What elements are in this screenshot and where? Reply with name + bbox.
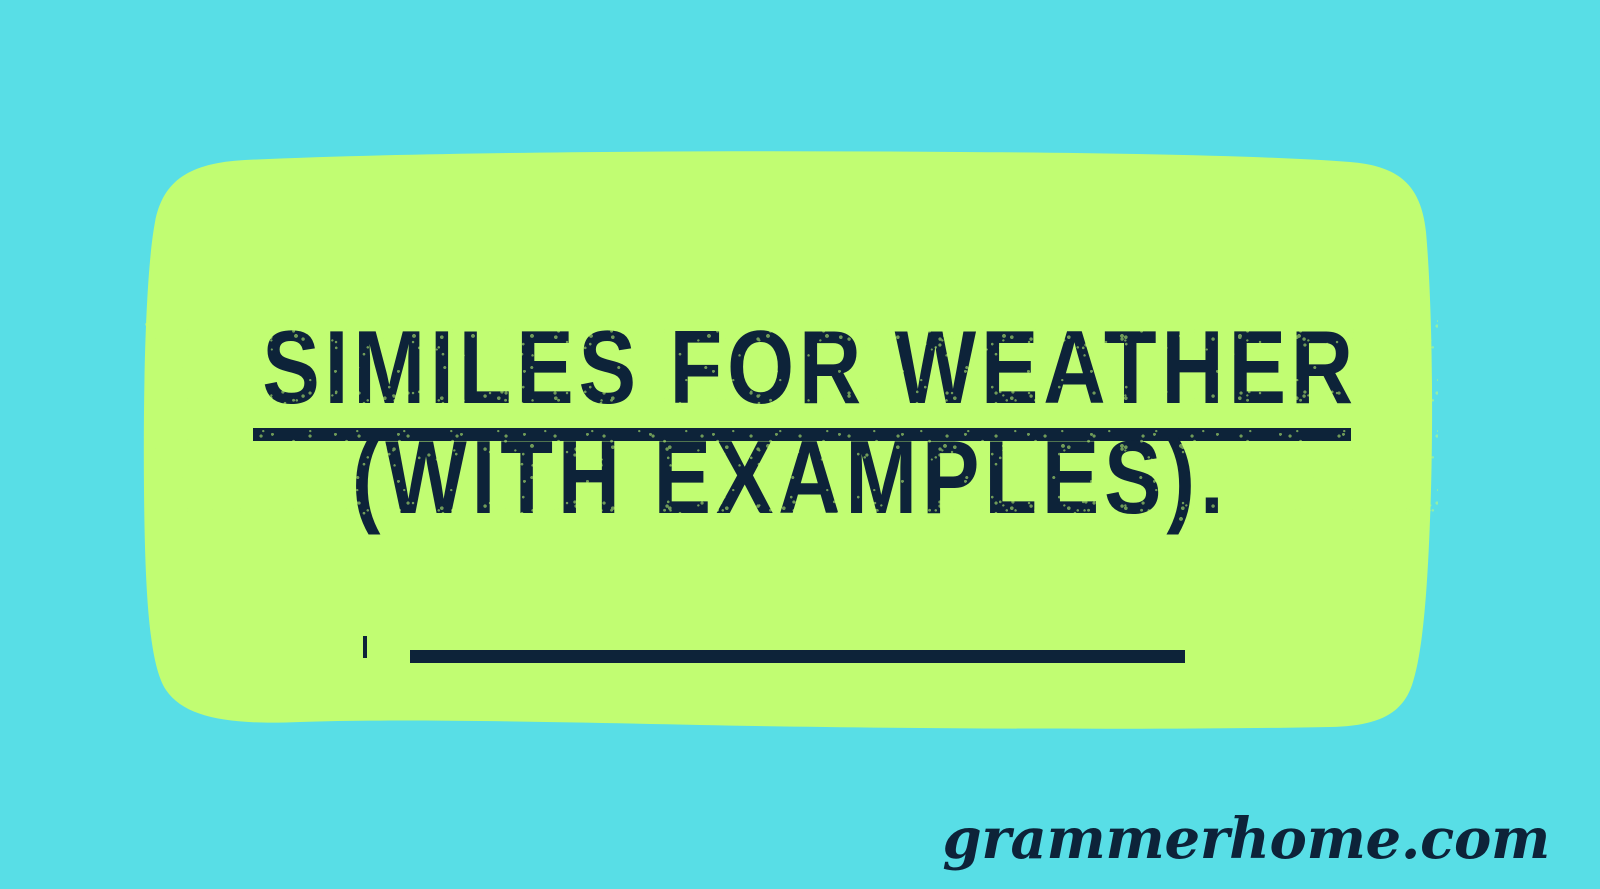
title-line-1-text: SIMILES FOR WEATHER (262, 318, 1358, 420)
poster-canvas: SIMILES FOR WEATHER (WITH EXAMPLES). gra… (0, 0, 1600, 889)
title-line-2: (WITH EXAMPLES). (150, 428, 1430, 530)
title-line-2-text: (WITH EXAMPLES). (352, 428, 1229, 530)
title-line-1: SIMILES FOR WEATHER (150, 318, 1430, 420)
title-underline-2 (410, 650, 1185, 663)
site-watermark: grammerhome.com (942, 811, 1550, 867)
title-block: SIMILES FOR WEATHER (WITH EXAMPLES). (150, 318, 1430, 530)
underline-tick-mark (363, 636, 367, 658)
